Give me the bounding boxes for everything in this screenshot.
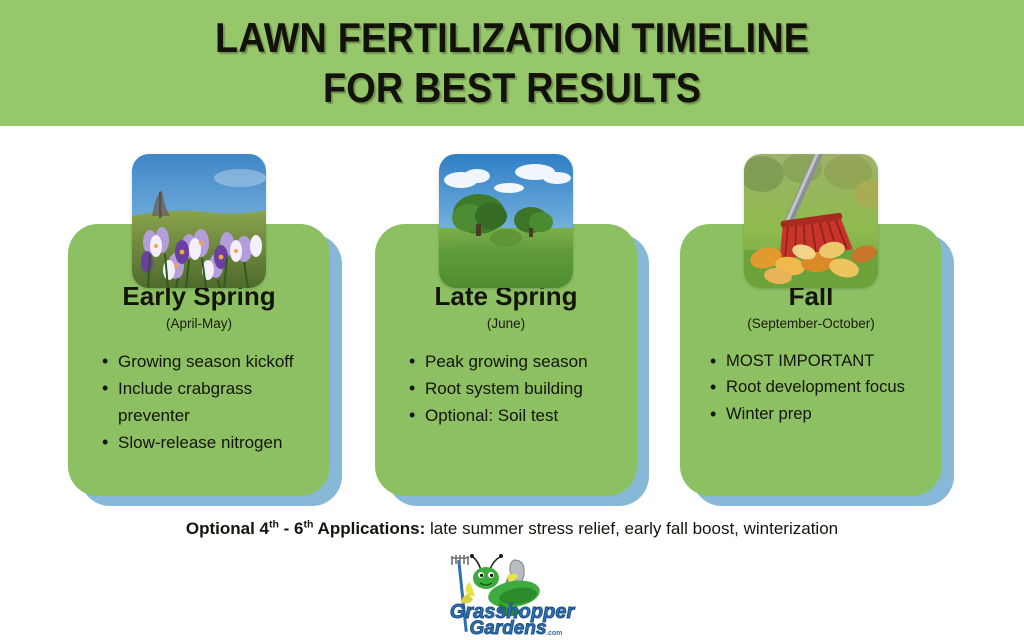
footer-note: Optional 4th - 6th Applications: late su…	[0, 518, 1024, 540]
footer-note-lead: Optional 4th - 6th Applications:	[186, 519, 425, 538]
page-title-line-1: LAWN FERTILIZATION TIMELINE	[215, 13, 809, 63]
footer-lead-suffix: Applications:	[313, 519, 425, 538]
early-spring-photo	[132, 154, 266, 288]
logo-suffix: .com	[546, 630, 562, 637]
footer-ordinal-2: th	[304, 518, 314, 530]
card-bullet-list: Peak growing season Root system building…	[387, 348, 625, 430]
card-early-spring[interactable]: Early Spring (April-May) Growing season …	[68, 126, 330, 516]
header-banner: LAWN FERTILIZATION TIMELINE FOR BEST RES…	[0, 0, 1024, 126]
list-item: MOST IMPORTANT	[710, 348, 930, 375]
list-item: Root development focus	[710, 374, 930, 401]
card-subtitle: (April-May)	[80, 316, 318, 332]
footer-lead-middle: - 6	[279, 519, 304, 538]
footer-ordinal-1: th	[269, 518, 279, 530]
page-title-line-2: FOR BEST RESULTS	[323, 63, 701, 113]
logo-wordmark: Grasshopper Gardens .com	[450, 601, 576, 639]
card-subtitle: (June)	[387, 316, 625, 332]
grasshopper-gardens-logo[interactable]: Grasshopper Gardens .com	[434, 552, 590, 640]
list-item: Slow-release nitrogen	[102, 429, 318, 456]
late-spring-photo	[439, 154, 573, 288]
timeline-cards: Early Spring (April-May) Growing season …	[0, 126, 1024, 516]
card-subtitle: (September-October)	[692, 316, 930, 332]
footer-note-detail: late summer stress relief, early fall bo…	[425, 519, 838, 538]
list-item: Root system building	[409, 375, 625, 402]
list-item: Winter prep	[710, 401, 930, 428]
card-bullet-list: Growing season kickoff Include crabgrass…	[80, 348, 318, 457]
card-bullet-list: MOST IMPORTANT Root development focus Wi…	[692, 348, 930, 428]
footer-lead-prefix: Optional 4	[186, 519, 269, 538]
list-item: Growing season kickoff	[102, 348, 318, 375]
logo-name-line-2: Gardens	[469, 618, 546, 639]
fall-photo	[744, 154, 878, 288]
list-item: Optional: Soil test	[409, 402, 625, 429]
card-fall[interactable]: Fall (September-October) MOST IMPORTANT …	[680, 126, 942, 516]
card-late-spring[interactable]: Late Spring (June) Peak growing season R…	[375, 126, 637, 516]
list-item: Peak growing season	[409, 348, 625, 375]
list-item: Include crabgrass preventer	[102, 375, 318, 429]
